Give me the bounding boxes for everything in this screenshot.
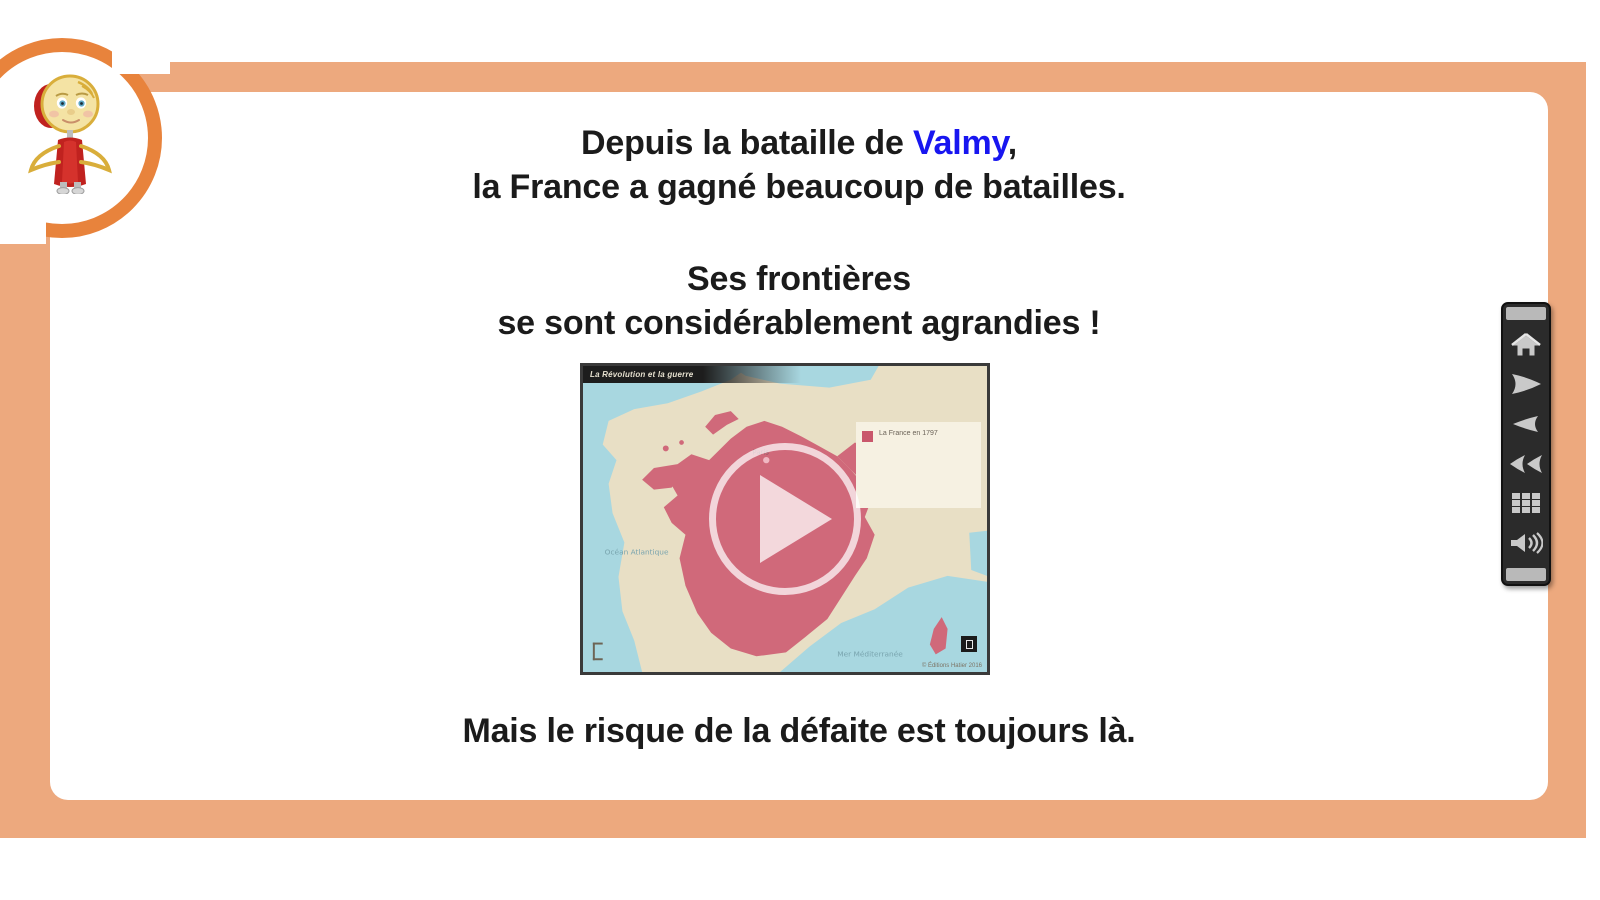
grid-button[interactable] <box>1505 485 1547 521</box>
legend-label: La France en 1797 <box>879 430 938 438</box>
intro-line-2: la France a gagné beaucoup de batailles. <box>472 168 1125 206</box>
valmy-highlight[interactable]: Valmy <box>913 124 1008 162</box>
grid-icon <box>1511 492 1541 514</box>
play-button[interactable] <box>709 443 861 595</box>
home-button[interactable] <box>1505 327 1547 363</box>
play-next-icon <box>1509 372 1543 396</box>
fullscreen-icon[interactable] <box>961 636 977 652</box>
svg-text:Mer Méditerranée: Mer Méditerranée <box>837 649 903 658</box>
mascot-icon <box>18 62 122 194</box>
conclusion-line: Mais le risque de la défaite est toujour… <box>462 712 1135 750</box>
previous-button[interactable] <box>1505 406 1547 442</box>
intro-line-1-pre: Depuis la bataille de <box>581 124 913 162</box>
paragraph-frontiers: Ses frontières se sont considérablement … <box>50 258 1548 345</box>
svg-text:Océan Atlantique: Océan Atlantique <box>605 547 669 556</box>
mascot-character[interactable] <box>18 62 122 194</box>
play-previous-icon <box>1511 414 1541 434</box>
map-credit: © Éditions Hatier 2016 <box>922 663 982 669</box>
slide-stage: Depuis la bataille de Valmy, la France a… <box>0 0 1600 900</box>
frontiers-line-1: Ses frontières <box>687 260 911 298</box>
rewind-icon <box>1508 453 1544 475</box>
slide-content: Depuis la bataille de Valmy, la France a… <box>50 92 1548 800</box>
next-button[interactable] <box>1505 366 1547 402</box>
rewind-button[interactable] <box>1505 446 1547 482</box>
paragraph-conclusion: Mais le risque de la défaite est toujour… <box>50 710 1548 754</box>
navigation-toolbar[interactable] <box>1501 302 1551 586</box>
video-title: La Révolution et la guerre <box>583 366 801 383</box>
toolbar-grip-top[interactable] <box>1506 307 1546 320</box>
paragraph-intro: Depuis la bataille de Valmy, la France a… <box>50 122 1548 209</box>
frontiers-line-2: se sont considérablement agrandies ! <box>497 304 1100 342</box>
legend-swatch-icon <box>862 431 873 442</box>
ring-mask-bottom <box>0 188 46 244</box>
toolbar-grip-bottom[interactable] <box>1506 568 1546 581</box>
video-player[interactable]: Paris Océan Atlantique Mer Méditerranée … <box>580 363 990 675</box>
sound-button[interactable] <box>1505 525 1547 561</box>
map-legend: La France en 1797 <box>856 422 981 508</box>
intro-line-1-post: , <box>1008 124 1017 162</box>
home-icon <box>1511 332 1541 358</box>
toolbar-buttons <box>1503 323 1549 565</box>
speaker-icon <box>1509 531 1543 555</box>
